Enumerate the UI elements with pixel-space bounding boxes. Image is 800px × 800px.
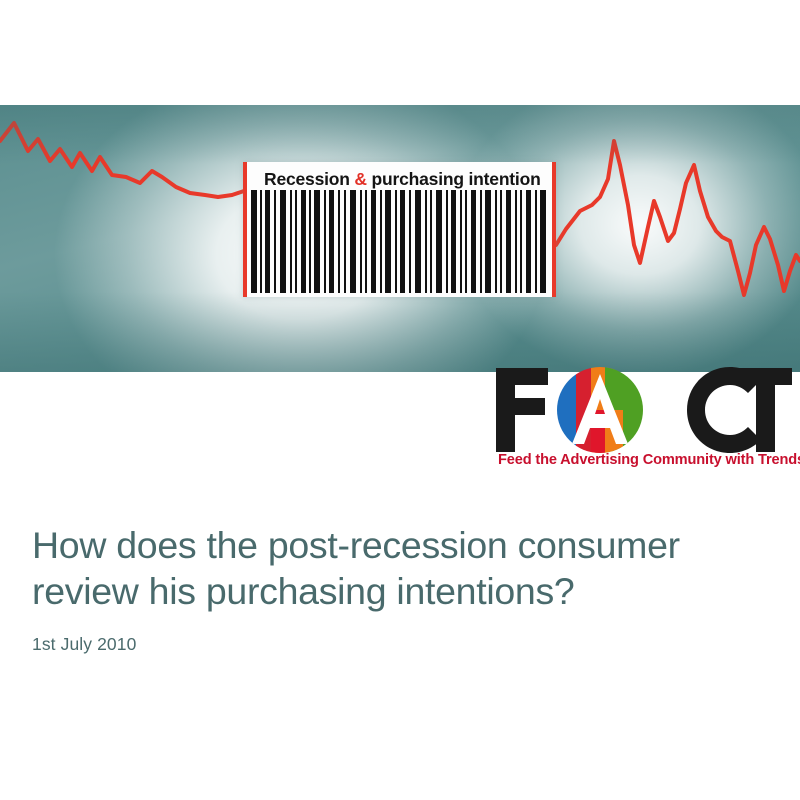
barcode-caption-after: purchasing intention: [367, 169, 541, 189]
trend-line-left: [0, 123, 254, 197]
barcode-bars: [251, 190, 548, 293]
trend-line-right: [556, 141, 800, 295]
barcode-rail-left: [243, 162, 247, 297]
page-title-line-2: review his purchasing intentions?: [32, 568, 762, 614]
page-title-line-1: How does the post-recession consumer: [32, 522, 762, 568]
fact-logo-letter-f: [496, 368, 548, 452]
title-block: How does the post-recession consumer rev…: [32, 522, 762, 655]
barcode-caption-ampersand: &: [354, 169, 366, 189]
slide-date: 1st July 2010: [32, 634, 762, 655]
page-title: How does the post-recession consumer rev…: [32, 522, 762, 614]
barcode-rail-right: [552, 162, 556, 297]
barcode-caption: Recession & purchasing intention: [264, 166, 544, 192]
fact-logo-mark: [492, 366, 792, 454]
barcode-caption-before: Recession: [264, 169, 354, 189]
slide-canvas: Recession & purchasing intention: [0, 0, 800, 800]
fact-logo-letter-a: [555, 366, 645, 454]
fact-logo-tagline: Feed the Advertising Community with Tren…: [498, 452, 800, 468]
barcode-graphic: Recession & purchasing intention: [243, 162, 556, 297]
fact-logo: Feed the Advertising Community with Tren…: [492, 366, 792, 478]
